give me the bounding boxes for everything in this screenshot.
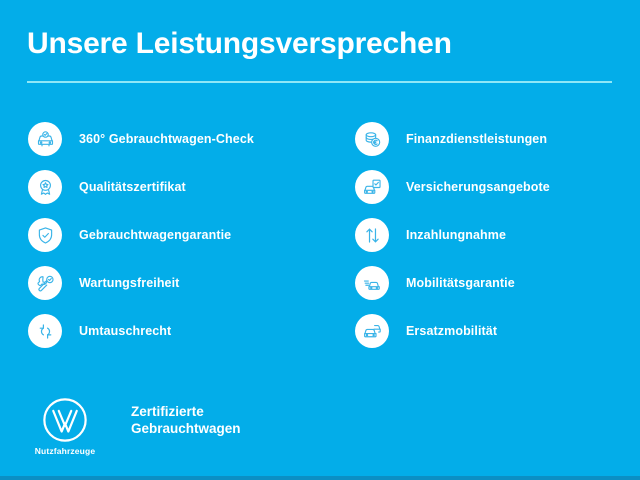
list-item[interactable]: Gebrauchtwagengarantie	[28, 218, 308, 252]
list-item-label: Inzahlungnahme	[406, 228, 506, 242]
car-document-icon	[355, 170, 389, 204]
footer-text: Zertifizierte Gebrauchtwagen	[131, 403, 241, 437]
list-item[interactable]: Qualitätszertifikat	[28, 170, 308, 204]
footer-line-2: Gebrauchtwagen	[131, 420, 241, 437]
car-check-icon	[28, 122, 62, 156]
list-item-label: Mobilitätsgarantie	[406, 276, 515, 290]
coins-euro-icon	[355, 122, 389, 156]
exchange-arrows-icon	[28, 314, 62, 348]
list-item[interactable]: Mobilitätsgarantie	[355, 266, 635, 300]
list-item-label: 360° Gebrauchtwagen-Check	[79, 132, 254, 146]
brand-subtitle: Nutzfahrzeuge	[35, 446, 96, 456]
list-item[interactable]: Ersatzmobilität	[355, 314, 635, 348]
brand-block: Nutzfahrzeuge	[30, 396, 100, 456]
list-item-label: Ersatzmobilität	[406, 324, 497, 338]
two-cars-icon	[355, 314, 389, 348]
shield-check-icon	[28, 218, 62, 252]
tow-truck-icon	[355, 266, 389, 300]
footer-line-1: Zertifizierte	[131, 403, 241, 420]
list-item-label: Wartungsfreiheit	[79, 276, 179, 290]
footer: Nutzfahrzeuge Zertifizierte Gebrauchtwag…	[30, 396, 241, 456]
header: Unsere Leistungsversprechen	[27, 26, 613, 83]
page-title: Unsere Leistungsversprechen	[27, 26, 613, 62]
award-badge-icon	[28, 170, 62, 204]
list-item-label: Gebrauchtwagengarantie	[79, 228, 231, 242]
list-item[interactable]: Wartungsfreiheit	[28, 266, 308, 300]
slide-canvas: Unsere Leistungsversprechen 360° Gebrauc…	[0, 0, 640, 480]
title-divider	[27, 81, 612, 83]
list-item-label: Qualitätszertifikat	[79, 180, 186, 194]
promises-column-left: 360° Gebrauchtwagen-Check Qualitätszerti…	[28, 122, 308, 362]
list-item-label: Versicherungsangebote	[406, 180, 550, 194]
list-item[interactable]: Inzahlungnahme	[355, 218, 635, 252]
promises-column-right: Finanzdienstleistungen Versicherungsange…	[355, 122, 635, 362]
list-item[interactable]: Umtauschrecht	[28, 314, 308, 348]
list-item-label: Finanzdienstleistungen	[406, 132, 547, 146]
up-down-arrows-icon	[355, 218, 389, 252]
vw-logo-icon	[41, 396, 89, 444]
bottom-edge	[0, 476, 640, 480]
list-item[interactable]: 360° Gebrauchtwagen-Check	[28, 122, 308, 156]
list-item[interactable]: Versicherungsangebote	[355, 170, 635, 204]
wrench-check-icon	[28, 266, 62, 300]
list-item-label: Umtauschrecht	[79, 324, 171, 338]
list-item[interactable]: Finanzdienstleistungen	[355, 122, 635, 156]
